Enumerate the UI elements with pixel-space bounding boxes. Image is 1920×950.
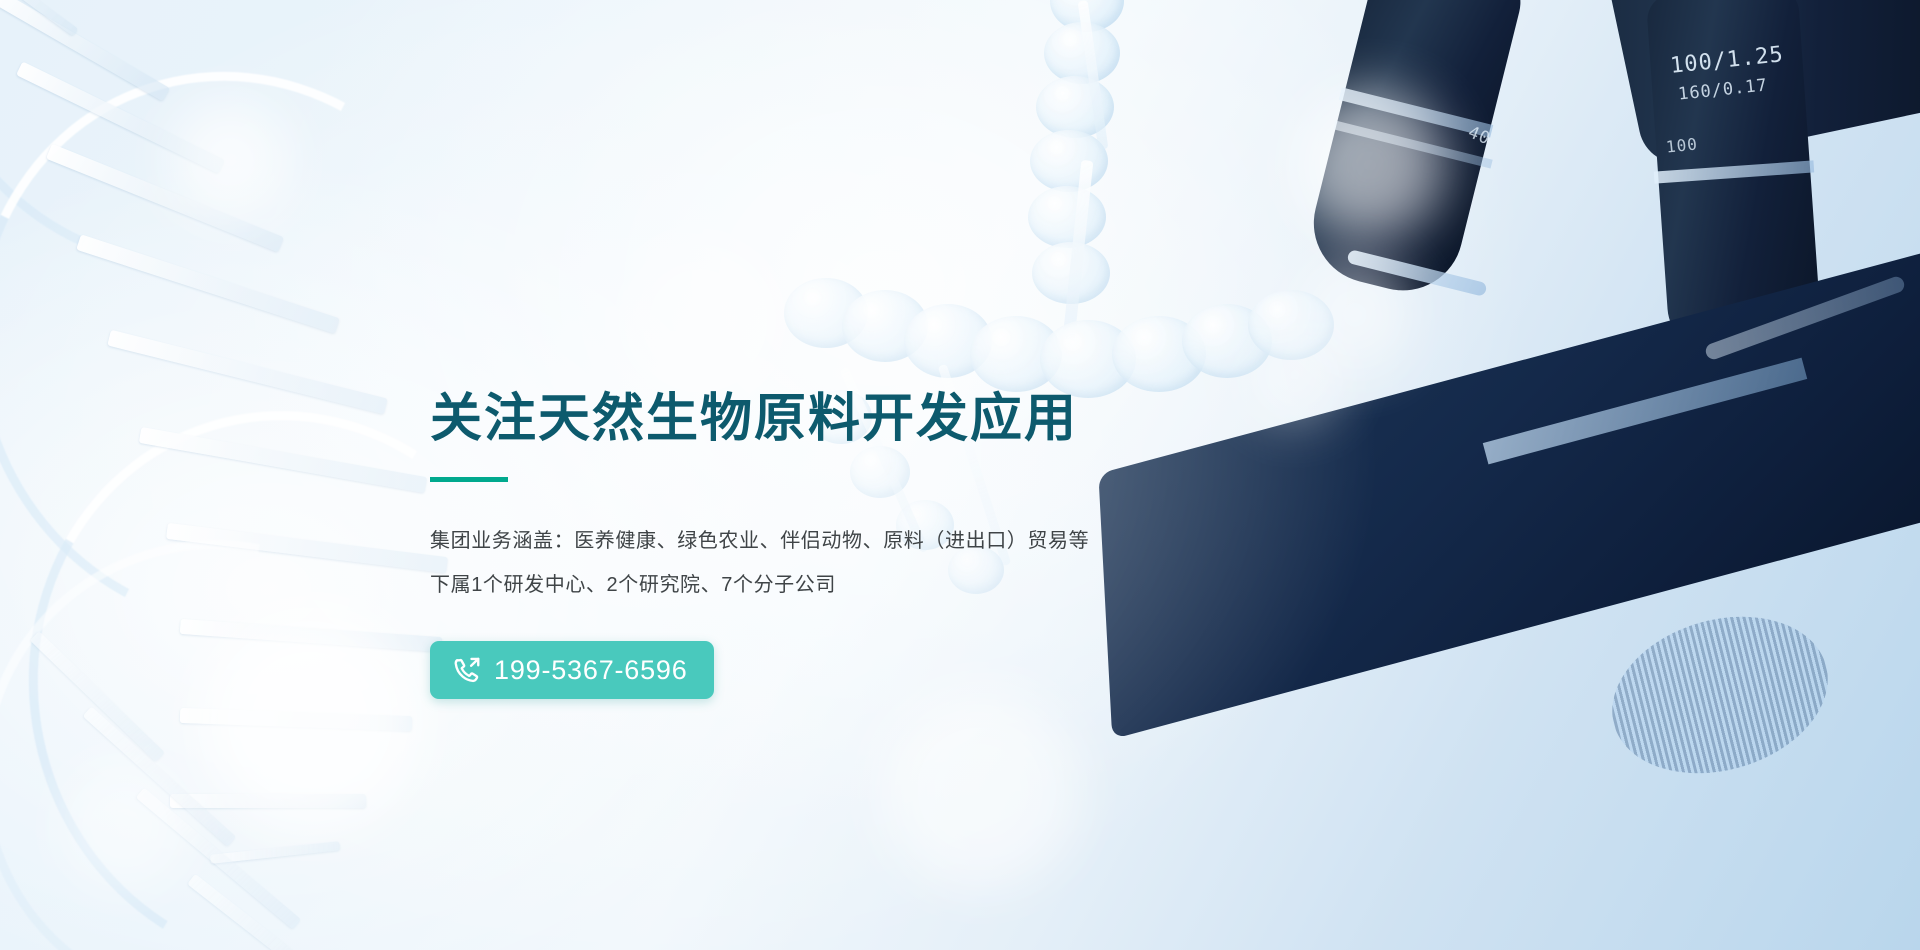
hero-content: 关注天然生物原料开发应用 集团业务涵盖：医养健康、绿色农业、伴侣动物、原料（进出… <box>430 390 1150 699</box>
objective-magnification-100: 100 <box>1665 134 1699 156</box>
phone-number-label: 199-5367-6596 <box>494 657 688 684</box>
phone-cta-button[interactable]: 199-5367-6596 <box>430 641 714 699</box>
bokeh-highlight <box>620 240 780 400</box>
microscope: 40 100/1.25 160/0.17 100 <box>1180 0 1920 950</box>
description-line-1: 集团业务涵盖：医养健康、绿色农业、伴侣动物、原料（进出口）贸易等 <box>430 519 1150 563</box>
hero-description: 集团业务涵盖：医养健康、绿色农业、伴侣动物、原料（进出口）贸易等 下属1个研发中… <box>430 519 1150 607</box>
bokeh-highlight <box>1295 90 1445 240</box>
hero-banner: 40 100/1.25 160/0.17 100 关注天然 <box>0 0 1920 950</box>
focus-knob <box>1594 593 1847 798</box>
accent-divider <box>430 477 508 482</box>
bokeh-highlight <box>170 100 290 220</box>
microscope-stage <box>1098 241 1920 739</box>
bokeh-highlight <box>1300 260 1410 370</box>
description-line-2: 下属1个研发中心、2个研究院、7个分子公司 <box>430 563 1150 607</box>
objective-label-100-125: 100/1.25 <box>1669 42 1785 79</box>
bokeh-highlight <box>200 610 420 830</box>
bokeh-highlight <box>1250 330 1340 420</box>
specimen-slide <box>1483 358 1807 465</box>
bokeh-highlight <box>60 760 190 890</box>
objective-magnification-40: 40 <box>1465 123 1493 150</box>
phone-forward-icon <box>452 655 482 685</box>
objective-label-160-017: 160/0.17 <box>1677 75 1768 104</box>
page-title: 关注天然生物原料开发应用 <box>430 390 1150 448</box>
bokeh-highlight <box>880 690 1080 890</box>
